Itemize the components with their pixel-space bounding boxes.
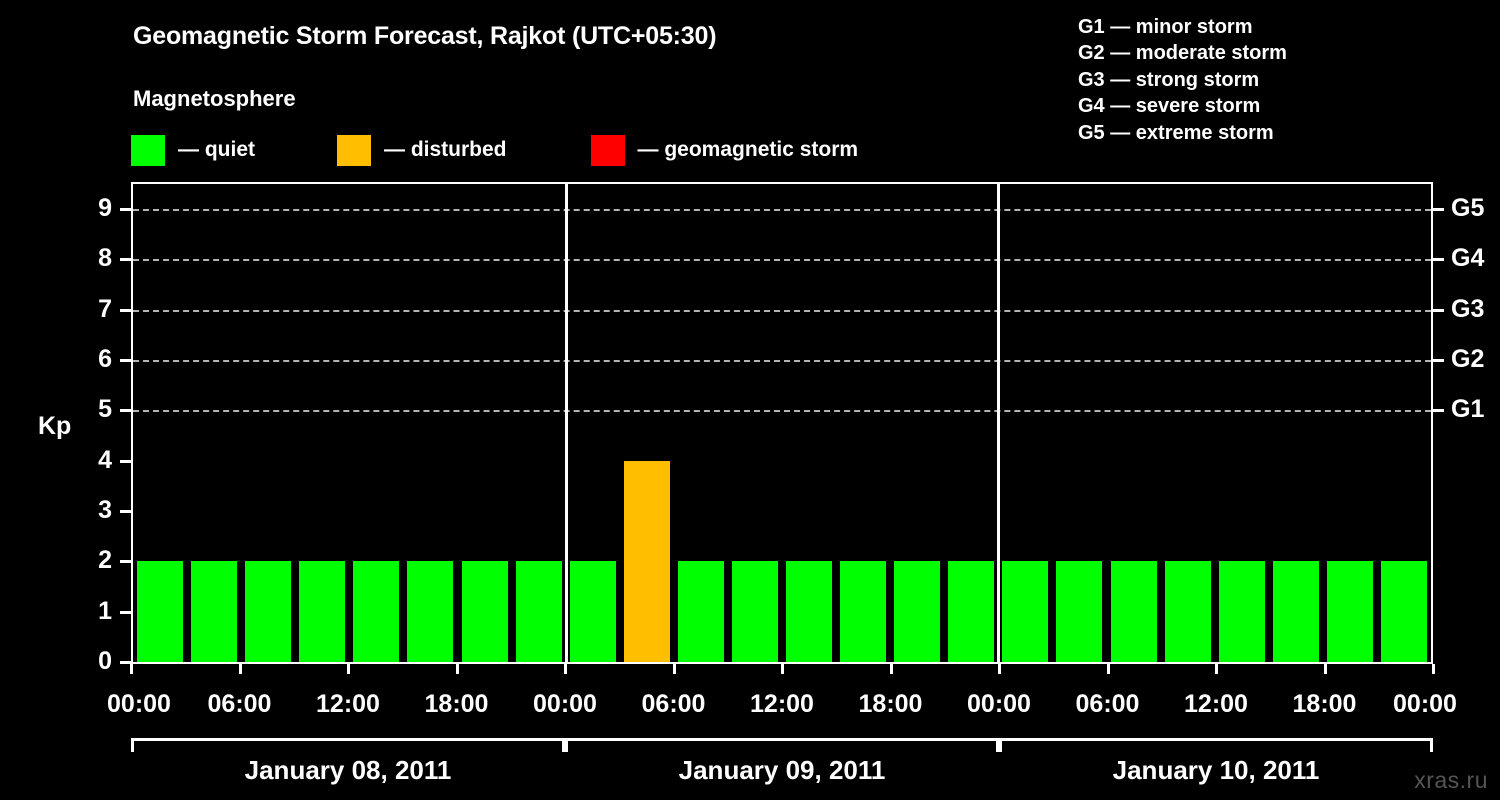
x-axis-tick [130, 664, 133, 674]
x-axis-tick-label: 12:00 [1184, 690, 1248, 719]
x-axis-tick [347, 664, 350, 674]
g-scale-legend-line: G3 — strong storm [1078, 67, 1287, 93]
y-axis-title: Kp [38, 412, 71, 441]
day-separator [565, 184, 568, 662]
kp-bar [353, 561, 399, 662]
date-label: January 10, 2011 [1113, 755, 1320, 786]
kp-bar [1111, 561, 1157, 662]
y-axis-tick [120, 510, 131, 513]
g-axis-tick-label: G1 [1451, 397, 1484, 422]
page-title: Geomagnetic Storm Forecast, Rajkot (UTC+… [133, 22, 716, 51]
g-scale-legend-line: G5 — extreme storm [1078, 120, 1287, 146]
g-axis-tick [1433, 208, 1444, 211]
magnetosphere-legend: — quiet— disturbed— geomagnetic storm [131, 134, 858, 166]
kp-bar [570, 561, 616, 662]
disturbed-swatch [337, 135, 371, 166]
legend-item: — disturbed [337, 134, 507, 166]
kp-bar [1327, 561, 1373, 662]
y-axis-tick [120, 208, 131, 211]
x-axis-tick-label: 06:00 [642, 690, 706, 719]
y-axis-tick-label: 6 [72, 347, 112, 372]
kp-bar [1273, 561, 1319, 662]
plot-area [131, 182, 1433, 664]
x-axis-tick [673, 664, 676, 674]
y-axis-tick-label: 7 [72, 297, 112, 322]
kp-bar [948, 561, 994, 662]
legend-item: — geomagnetic storm [591, 134, 859, 166]
gridline [133, 209, 1431, 211]
kp-bar [840, 561, 886, 662]
y-axis-tick-label: 8 [72, 246, 112, 271]
date-label: January 09, 2011 [679, 755, 886, 786]
y-axis-tick [120, 560, 131, 563]
kp-bar [245, 561, 291, 662]
x-axis-tick-label: 00:00 [1393, 690, 1457, 719]
x-axis-tick [456, 664, 459, 674]
gridline [133, 259, 1431, 261]
legend-item: — quiet [131, 134, 255, 166]
y-axis-tick-label: 2 [72, 548, 112, 573]
x-axis-tick [1324, 664, 1327, 674]
y-axis-tick-label: 4 [72, 448, 112, 473]
legend-item-label: — geomagnetic storm [638, 138, 859, 162]
g-scale-legend-line: G1 — minor storm [1078, 14, 1287, 40]
kp-bar [1002, 561, 1048, 662]
kp-bar [732, 561, 778, 662]
kp-bar [1381, 561, 1427, 662]
kp-bar [624, 461, 670, 662]
g-axis-tick-label: G2 [1451, 347, 1484, 372]
date-bracket [565, 738, 999, 752]
x-axis-tick [1215, 664, 1218, 674]
storm-swatch [591, 135, 625, 166]
y-axis-tick-label: 9 [72, 196, 112, 221]
x-axis-tick [890, 664, 893, 674]
kp-bar [462, 561, 508, 662]
x-axis-tick-label: 12:00 [750, 690, 814, 719]
date-bracket [131, 738, 565, 752]
x-axis-tick-label: 12:00 [316, 690, 380, 719]
y-axis-tick [120, 611, 131, 614]
x-axis-tick [1107, 664, 1110, 674]
watermark: xras.ru [1414, 767, 1488, 794]
x-axis-tick-label: 18:00 [1293, 690, 1357, 719]
kp-bar [1165, 561, 1211, 662]
g-scale-legend: G1 — minor stormG2 — moderate stormG3 — … [1078, 14, 1287, 146]
g-axis-tick [1433, 258, 1444, 261]
x-axis-tick [239, 664, 242, 674]
y-axis-tick-label: 0 [72, 649, 112, 674]
x-axis-tick-label: 00:00 [533, 690, 597, 719]
magnetosphere-label: Magnetosphere [133, 86, 296, 112]
g-axis-tick [1433, 409, 1444, 412]
kp-bar [191, 561, 237, 662]
gridline [133, 310, 1431, 312]
x-axis-tick [1432, 664, 1435, 674]
kp-bar [407, 561, 453, 662]
kp-bar [299, 561, 345, 662]
date-bracket [999, 738, 1433, 752]
x-axis-tick-label: 06:00 [1076, 690, 1140, 719]
x-axis-tick-label: 18:00 [859, 690, 923, 719]
g-axis-tick-label: G5 [1451, 196, 1484, 221]
kp-bar [1056, 561, 1102, 662]
g-axis-tick-label: G4 [1451, 246, 1484, 271]
gridline [133, 360, 1431, 362]
x-axis-tick-label: 00:00 [107, 690, 171, 719]
quiet-swatch [131, 135, 165, 166]
y-axis-tick-label: 1 [72, 599, 112, 624]
kp-bar [516, 561, 562, 662]
forecast-chart-root: Geomagnetic Storm Forecast, Rajkot (UTC+… [0, 0, 1500, 800]
x-axis-tick-label: 18:00 [425, 690, 489, 719]
kp-bar [137, 561, 183, 662]
date-label: January 08, 2011 [245, 755, 452, 786]
kp-bar [678, 561, 724, 662]
g-axis-tick [1433, 309, 1444, 312]
y-axis-tick [120, 409, 131, 412]
gridline [133, 410, 1431, 412]
g-scale-legend-line: G4 — severe storm [1078, 93, 1287, 119]
y-axis-tick [120, 359, 131, 362]
g-axis-tick-label: G3 [1451, 297, 1484, 322]
g-scale-legend-line: G2 — moderate storm [1078, 40, 1287, 66]
x-axis-tick-label: 06:00 [208, 690, 272, 719]
legend-item-label: — disturbed [384, 138, 507, 162]
kp-bar [894, 561, 940, 662]
x-axis-tick [781, 664, 784, 674]
day-separator [997, 184, 1000, 662]
kp-bar [1219, 561, 1265, 662]
y-axis-tick [120, 309, 131, 312]
g-axis-tick [1433, 359, 1444, 362]
y-axis-tick [120, 460, 131, 463]
y-axis-tick-label: 3 [72, 498, 112, 523]
x-axis-tick [564, 664, 567, 674]
x-axis-tick [998, 664, 1001, 674]
y-axis-tick-label: 5 [72, 397, 112, 422]
y-axis-tick [120, 258, 131, 261]
legend-item-label: — quiet [178, 138, 255, 162]
kp-bar [786, 561, 832, 662]
x-axis-tick-label: 00:00 [967, 690, 1031, 719]
